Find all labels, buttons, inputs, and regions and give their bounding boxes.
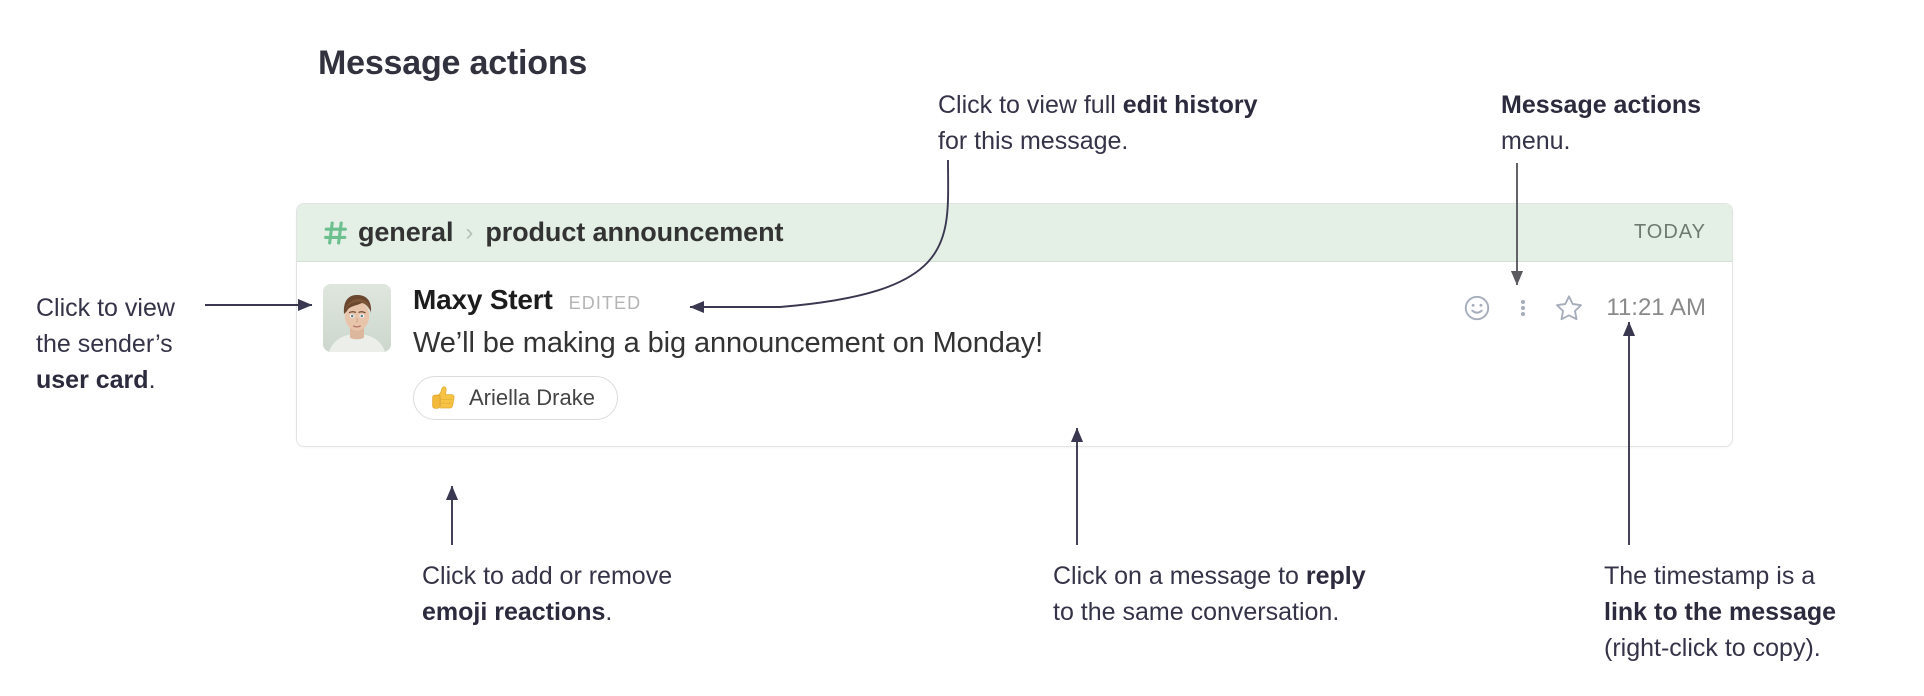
annotation-emoji-reactions: Click to add or remove emoji reactions. — [422, 558, 672, 630]
annotation-timestamp-text-1: The timestamp is a — [1604, 558, 1836, 594]
topic-name[interactable]: product announcement — [485, 217, 783, 248]
annotation-user-card: Click to view the sender’s user card. — [36, 290, 175, 398]
annotation-edit-history-text-2: for this message. — [938, 123, 1258, 159]
reaction-user-names: Ariella Drake — [469, 385, 595, 411]
sender-name[interactable]: Maxy Stert — [413, 284, 553, 316]
reaction-list: Ariella Drake — [413, 376, 1706, 420]
annotation-actions-menu-text-2: menu. — [1501, 123, 1701, 159]
stream-name[interactable]: general — [358, 217, 453, 248]
annotation-reply-text-2: to the same conversation. — [1053, 594, 1366, 630]
emoji-reaction-icon[interactable] — [1454, 288, 1500, 328]
reaction-pill[interactable]: Ariella Drake — [413, 376, 618, 420]
annotation-reply-text-1: Click on a message to — [1053, 562, 1306, 590]
avatar[interactable] — [323, 284, 391, 352]
thumbs-up-emoji — [428, 383, 458, 413]
annotation-actions-menu-bold: Message actions — [1501, 91, 1701, 119]
recipient-bar[interactable]: general › product announcement TODAY — [297, 204, 1732, 262]
annotation-edit-history: Click to view full edit history for this… — [938, 87, 1258, 159]
message-controls: 11:21 AM — [1454, 288, 1706, 328]
message-text[interactable]: We’ll be making a big announcement on Mo… — [413, 327, 1706, 360]
annotation-reply-bold: reply — [1306, 562, 1366, 590]
annotation-reply: Click on a message to reply to the same … — [1053, 558, 1366, 630]
annotation-actions-menu: Message actions menu. — [1501, 87, 1701, 159]
annotation-emoji-text-1: Click to add or remove — [422, 558, 672, 594]
message-timestamp[interactable]: 11:21 AM — [1606, 294, 1706, 322]
annotation-user-card-text-1: Click to view — [36, 290, 175, 326]
hash-icon — [323, 220, 349, 246]
page-title: Message actions — [318, 44, 587, 83]
annotation-edit-history-bold: edit history — [1123, 91, 1258, 119]
annotation-edit-history-text-1: Click to view full — [938, 91, 1123, 119]
annotation-emoji-bold: emoji reactions — [422, 598, 605, 626]
date-label: TODAY — [1634, 221, 1706, 244]
breadcrumb-separator-icon: › — [465, 219, 473, 247]
message-actions-menu-icon[interactable] — [1500, 288, 1546, 328]
annotation-user-card-text-3: . — [149, 366, 156, 394]
annotation-timestamp: The timestamp is a link to the message (… — [1604, 558, 1836, 666]
message-card: general › product announcement TODAY — [296, 203, 1733, 447]
annotation-emoji-text-2: . — [605, 598, 612, 626]
screenshot-stage: Message actions Click to view full edit … — [0, 0, 1924, 696]
annotation-timestamp-text-3: (right-click to copy). — [1604, 630, 1836, 666]
message-row[interactable]: Maxy Stert EDITED We’ll be making a big … — [297, 262, 1732, 446]
edited-label[interactable]: EDITED — [569, 293, 642, 314]
annotation-timestamp-bold: link to the message — [1604, 598, 1836, 626]
annotation-user-card-text-2: the sender’s — [36, 326, 175, 362]
star-icon[interactable] — [1546, 288, 1592, 328]
annotation-user-card-bold: user card — [36, 366, 149, 394]
